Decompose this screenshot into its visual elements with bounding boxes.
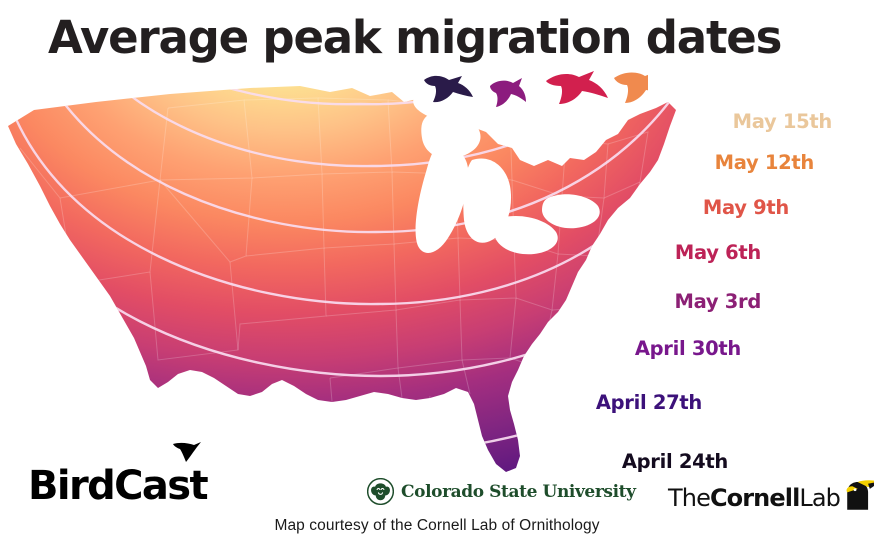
woodpecker-icon: [842, 478, 874, 512]
infographic-canvas: Average peak migration dates: [0, 0, 874, 551]
contour-label-may-6: May 6th: [675, 241, 761, 264]
ram-head-icon: [367, 478, 394, 505]
bird-silhouette-icon: [172, 441, 202, 463]
map-color-field: [0, 48, 720, 508]
flying-bird-icon: [614, 71, 648, 103]
flying-bird-icon: [546, 71, 608, 104]
contour-label-april-24: April 24th: [622, 450, 728, 473]
map-caption: Map courtesy of the Cornell Lab of Ornit…: [0, 517, 874, 535]
contour-label-may-9: May 9th: [703, 196, 789, 219]
contour-label-april-27: April 27th: [596, 391, 702, 414]
contour-label-may-15: May 15th: [733, 110, 832, 133]
flying-birds-group: [418, 66, 648, 114]
csu-logo: Colorado State University: [367, 478, 636, 505]
birdcast-logo-text: BirdCast: [28, 466, 207, 506]
cornell-suffix: Lab: [799, 484, 840, 512]
contour-label-april-30: April 30th: [635, 337, 741, 360]
csu-logo-label: Colorado State University: [401, 482, 636, 502]
cornell-prefix: The: [668, 484, 710, 512]
migration-map: [0, 48, 720, 508]
flying-bird-icon: [424, 76, 473, 102]
cornell-bold: Cornell: [710, 484, 799, 512]
us-choropleth-svg: [0, 48, 720, 508]
contour-label-may-3: May 3rd: [674, 290, 761, 313]
cornell-lab-label: TheCornellLab: [668, 486, 840, 510]
cornell-lab-logo: TheCornellLab: [668, 478, 874, 510]
flying-bird-icon: [490, 78, 526, 107]
contour-label-may-12: May 12th: [715, 151, 814, 174]
